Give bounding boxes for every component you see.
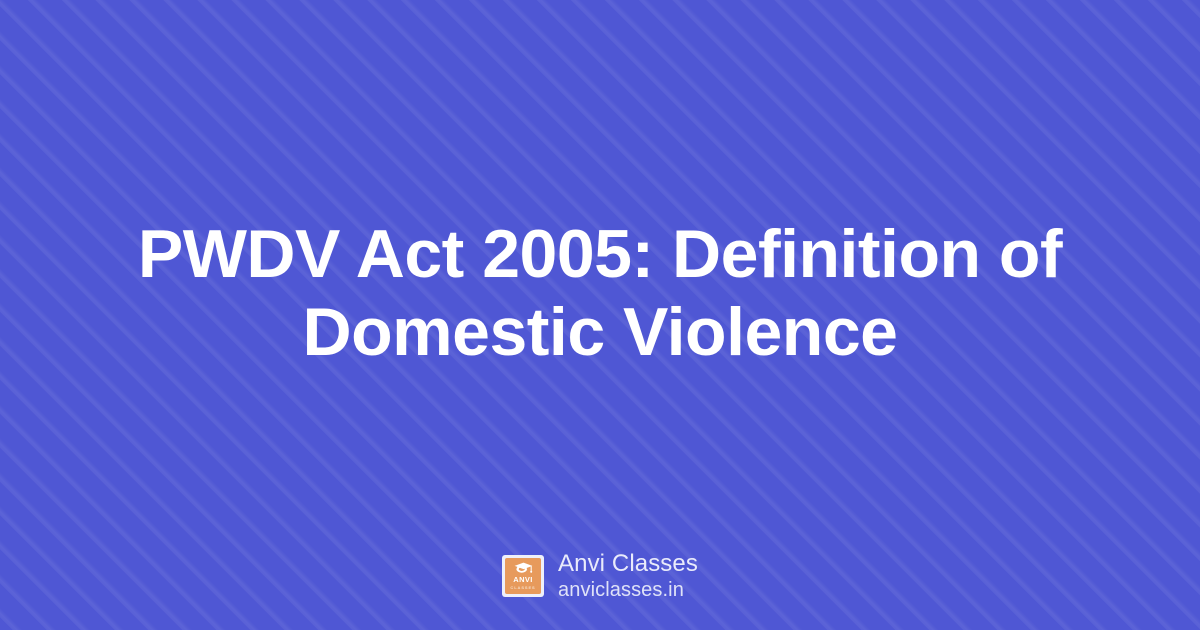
graduation-cap-icon [514,562,533,575]
brand-logo: ANVI CLASSES [502,555,544,597]
brand-logo-tile: ANVI CLASSES [505,558,541,594]
brand-name: Anvi Classes [558,550,698,578]
brand-logo-mark-subtext: CLASSES [510,586,535,590]
headline-container: PWDV Act 2005: Definition of Domestic Vi… [65,216,1135,371]
og-image-card: PWDV Act 2005: Definition of Domestic Vi… [0,0,1200,630]
brand-text-block: Anvi Classes anviclasses.in [558,550,698,602]
brand-logo-mark-text: ANVI [513,576,533,584]
brand-footer: ANVI CLASSES Anvi Classes anviclasses.in [0,550,1200,602]
brand-url: anviclasses.in [558,579,698,602]
page-title: PWDV Act 2005: Definition of Domestic Vi… [65,216,1135,371]
